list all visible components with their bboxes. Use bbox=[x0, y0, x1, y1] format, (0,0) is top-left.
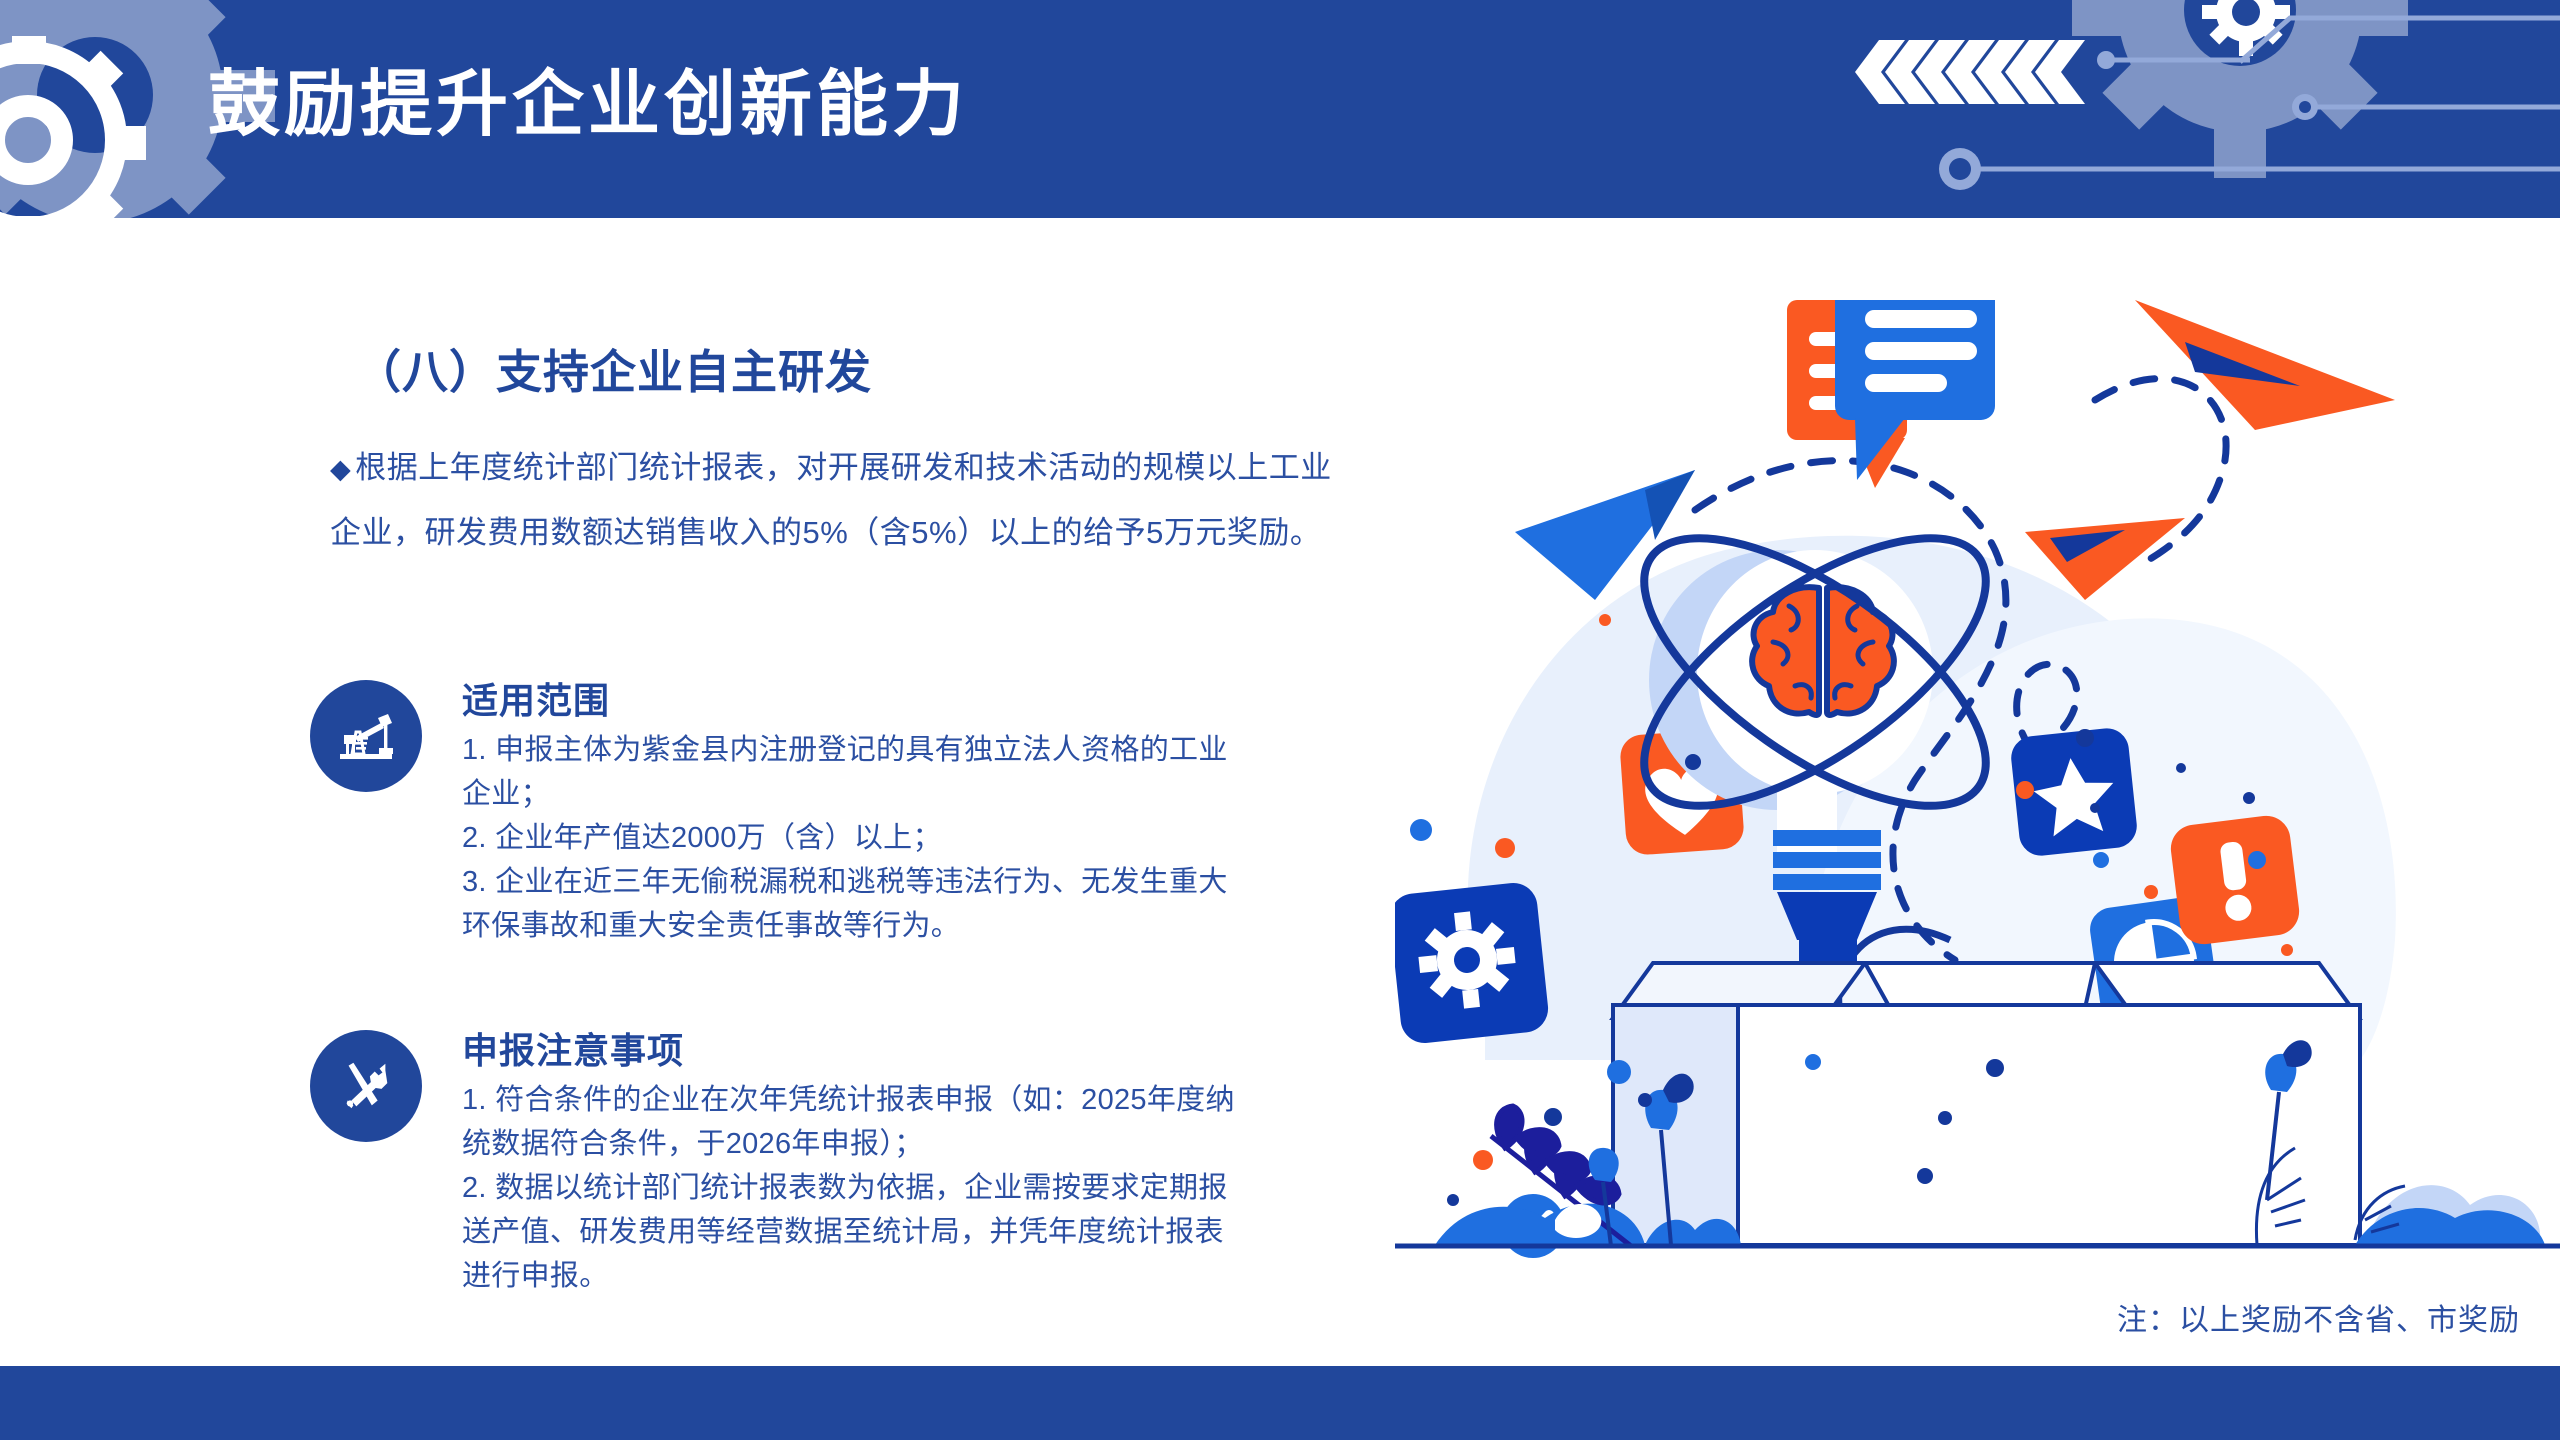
info-block-heading: 适用范围 bbox=[462, 676, 1392, 726]
gear-icon bbox=[1395, 881, 1550, 1046]
chat-bubble-icon bbox=[1835, 300, 1995, 480]
info-block-line: 进行申报。 bbox=[462, 1254, 1392, 1298]
wrench-screwdriver-icon bbox=[310, 1030, 422, 1142]
info-block-line: 统数据符合条件，于2026年申报）； bbox=[462, 1122, 1392, 1166]
exclamation-icon bbox=[2168, 813, 2302, 947]
info-block-line: 企业； bbox=[462, 772, 1392, 816]
info-block-body: 申报注意事项 1. 符合条件的企业在次年凭统计报表申报（如：2025年度纳 统数… bbox=[462, 1026, 1392, 1298]
info-block-line: 送产值、研发费用等经营数据至统计局，并凭年度统计报表 bbox=[462, 1210, 1392, 1254]
paper-plane-icon bbox=[2135, 300, 2395, 430]
footer-bar bbox=[0, 1366, 2560, 1440]
main-content: （八）支持企业自主研发 ◆根据上年度统计部门统计报表，对开展研发和技术活动的规模… bbox=[0, 218, 1400, 1366]
gear-icon bbox=[2072, 0, 2408, 178]
diamond-bullet-icon: ◆ bbox=[330, 454, 351, 484]
open-box-icon bbox=[1613, 963, 2360, 1245]
info-block-line: 3. 企业在近三年无偷税漏税和逃税等违法行为、无发生重大 bbox=[462, 860, 1392, 904]
gear-icon bbox=[0, 36, 146, 218]
circuit-line-icon bbox=[1965, 18, 2560, 169]
section-heading: （八）支持企业自主研发 bbox=[355, 343, 872, 401]
footnote: 注：以上奖励不含省、市奖励 bbox=[2117, 1300, 2520, 1342]
chevrons-left-icon bbox=[1855, 40, 2085, 104]
gear-icon bbox=[2202, 0, 2290, 56]
lead-text: 根据上年度统计部门统计报表，对开展研发和技术活动的规模以上工业企业，研发费用数额… bbox=[330, 450, 1332, 550]
oil-pump-jack-icon bbox=[310, 680, 422, 792]
info-block-line: 2. 企业年产值达2000万（含）以上； bbox=[462, 816, 1392, 860]
info-block-line: 1. 符合条件的企业在次年凭统计报表申报（如：2025年度纳 bbox=[462, 1078, 1392, 1122]
circuit-line-icon bbox=[1939, 51, 2318, 190]
info-block-heading: 申报注意事项 bbox=[462, 1026, 1392, 1076]
info-block-line: 2. 数据以统计部门统计报表数为依据，企业需按要求定期报 bbox=[462, 1166, 1392, 1210]
page-header: 鼓励提升企业创新能力 bbox=[0, 0, 2560, 218]
innovation-open-box-illustration bbox=[1395, 300, 2560, 1300]
info-block-line: 1. 申报主体为紫金县内注册登记的具有独立法人资格的工业 bbox=[462, 728, 1392, 772]
gear-icon bbox=[0, 52, 116, 218]
info-block-body: 适用范围 1. 申报主体为紫金县内注册登记的具有独立法人资格的工业 企业； 2.… bbox=[462, 676, 1392, 948]
lead-paragraph: ◆根据上年度统计部门统计报表，对开展研发和技术活动的规模以上工业企业，研发费用数… bbox=[330, 436, 1360, 564]
info-block-line: 环保事故和重大安全责任事故等行为。 bbox=[462, 904, 1392, 948]
page-title: 鼓励提升企业创新能力 bbox=[208, 50, 968, 160]
